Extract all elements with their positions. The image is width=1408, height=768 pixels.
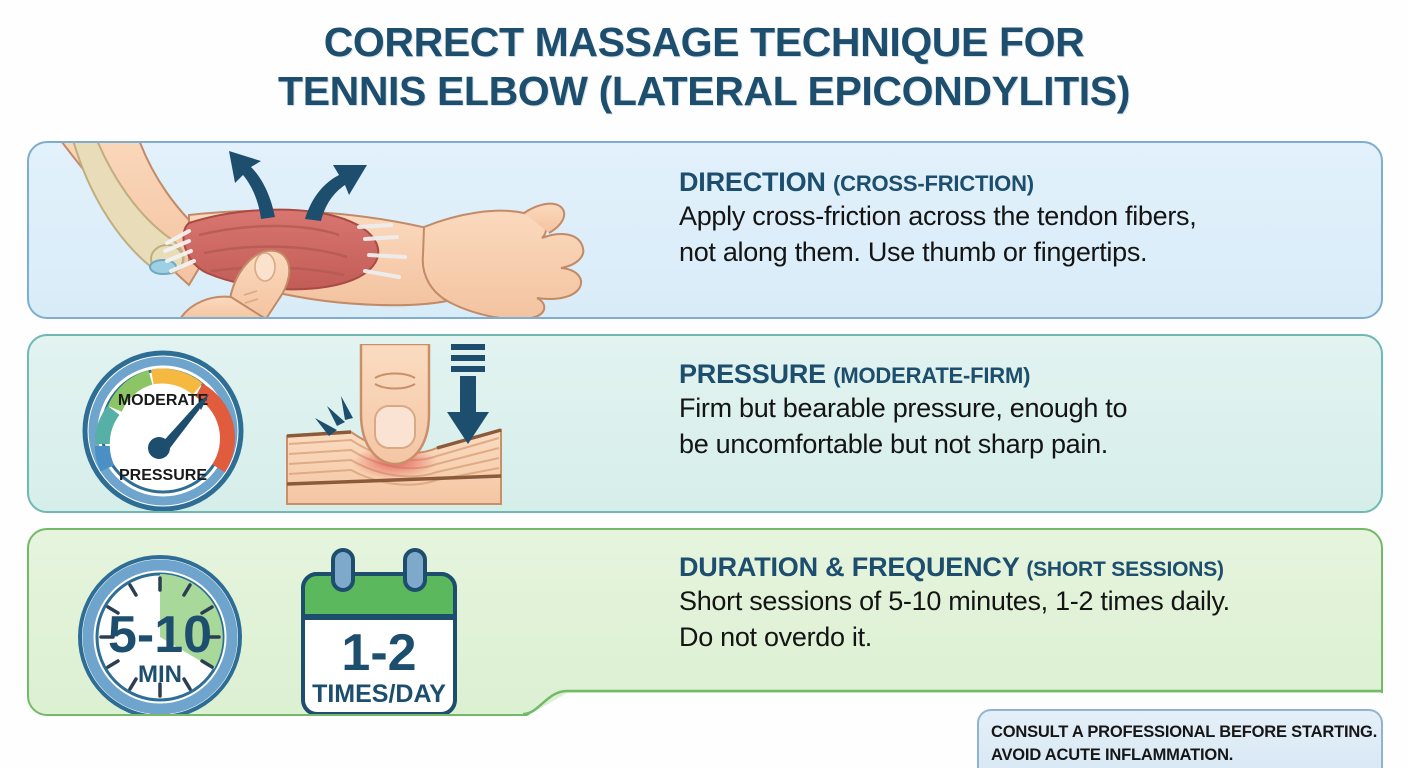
clock-value: 5-10 bbox=[108, 606, 212, 664]
direction-desc-line-2: not along them. Use thumb or fingertips. bbox=[679, 234, 1196, 270]
duration-heading-main: DURATION & FREQUENCY bbox=[679, 552, 1026, 582]
calendar-icon: 1-2 TIMES/DAY bbox=[281, 542, 481, 716]
pressure-description: Firm but bearable pressure, enough to be… bbox=[679, 390, 1127, 462]
duration-desc-line-2: Do not overdo it. bbox=[679, 619, 1230, 655]
pressure-desc-line-2: be uncomfortable but not sharp pain. bbox=[679, 426, 1127, 462]
page-title-line-1: CORRECT MASSAGE TECHNIQUE FOR bbox=[0, 18, 1408, 67]
direction-heading-main: DIRECTION bbox=[679, 167, 833, 197]
duration-desc-line-1: Short sessions of 5-10 minutes, 1-2 time… bbox=[679, 583, 1230, 619]
duration-heading: DURATION & FREQUENCY (SHORT SESSIONS) bbox=[679, 552, 1230, 583]
duration-text-block: DURATION & FREQUENCY (SHORT SESSIONS) Sh… bbox=[679, 552, 1230, 655]
pressure-desc-line-1: Firm but bearable pressure, enough to bbox=[679, 390, 1127, 426]
disclaimer-line-2: AVOID ACUTE INFLAMMATION. bbox=[991, 744, 1381, 767]
direction-text-block: DIRECTION (CROSS-FRICTION) Apply cross-f… bbox=[679, 167, 1196, 270]
finger-press-icon bbox=[279, 344, 509, 510]
duration-heading-sub: (SHORT SESSIONS) bbox=[1026, 558, 1224, 581]
pressure-heading-main: PRESSURE bbox=[679, 359, 833, 389]
calendar-value: 1-2 bbox=[341, 624, 416, 682]
direction-desc-line-1: Apply cross-friction across the tendon f… bbox=[679, 198, 1196, 234]
infographic-page: CORRECT MASSAGE TECHNIQUE FOR TENNIS ELB… bbox=[0, 0, 1408, 768]
card-duration: 5-10 MIN 1-2 TIMES/DAY DURATION & FREQUE… bbox=[27, 528, 1383, 716]
disclaimer-line-1: CONSULT A PROFESSIONAL BEFORE STARTING. bbox=[991, 721, 1381, 744]
page-title-line-2: TENNIS ELBOW (LATERAL EPICONDYLITIS) bbox=[0, 67, 1408, 116]
elbow-anatomy-icon bbox=[39, 141, 659, 319]
pressure-heading: PRESSURE (MODERATE-FIRM) bbox=[679, 359, 1127, 390]
direction-heading: DIRECTION (CROSS-FRICTION) bbox=[679, 167, 1196, 198]
direction-heading-sub: (CROSS-FRICTION) bbox=[833, 171, 1034, 196]
disclaimer-note: CONSULT A PROFESSIONAL BEFORE STARTING. … bbox=[977, 709, 1383, 768]
pressure-text-block: PRESSURE (MODERATE-FIRM) Firm but bearab… bbox=[679, 359, 1127, 462]
gauge-label-bottom: PRESSURE bbox=[119, 467, 207, 484]
pressure-heading-sub: (MODERATE-FIRM) bbox=[833, 363, 1030, 388]
page-title: CORRECT MASSAGE TECHNIQUE FOR TENNIS ELB… bbox=[0, 18, 1408, 116]
card-pressure: MODERATE PRESSURE bbox=[27, 334, 1383, 513]
duration-description: Short sessions of 5-10 minutes, 1-2 time… bbox=[679, 583, 1230, 655]
direction-description: Apply cross-friction across the tendon f… bbox=[679, 198, 1196, 270]
clock-icon: 5-10 MIN bbox=[65, 552, 255, 716]
pressure-gauge-icon: MODERATE PRESSURE bbox=[71, 348, 255, 513]
calendar-unit: TIMES/DAY bbox=[312, 680, 446, 708]
clock-unit: MIN bbox=[138, 661, 182, 688]
card-direction: DIRECTION (CROSS-FRICTION) Apply cross-f… bbox=[27, 141, 1383, 319]
